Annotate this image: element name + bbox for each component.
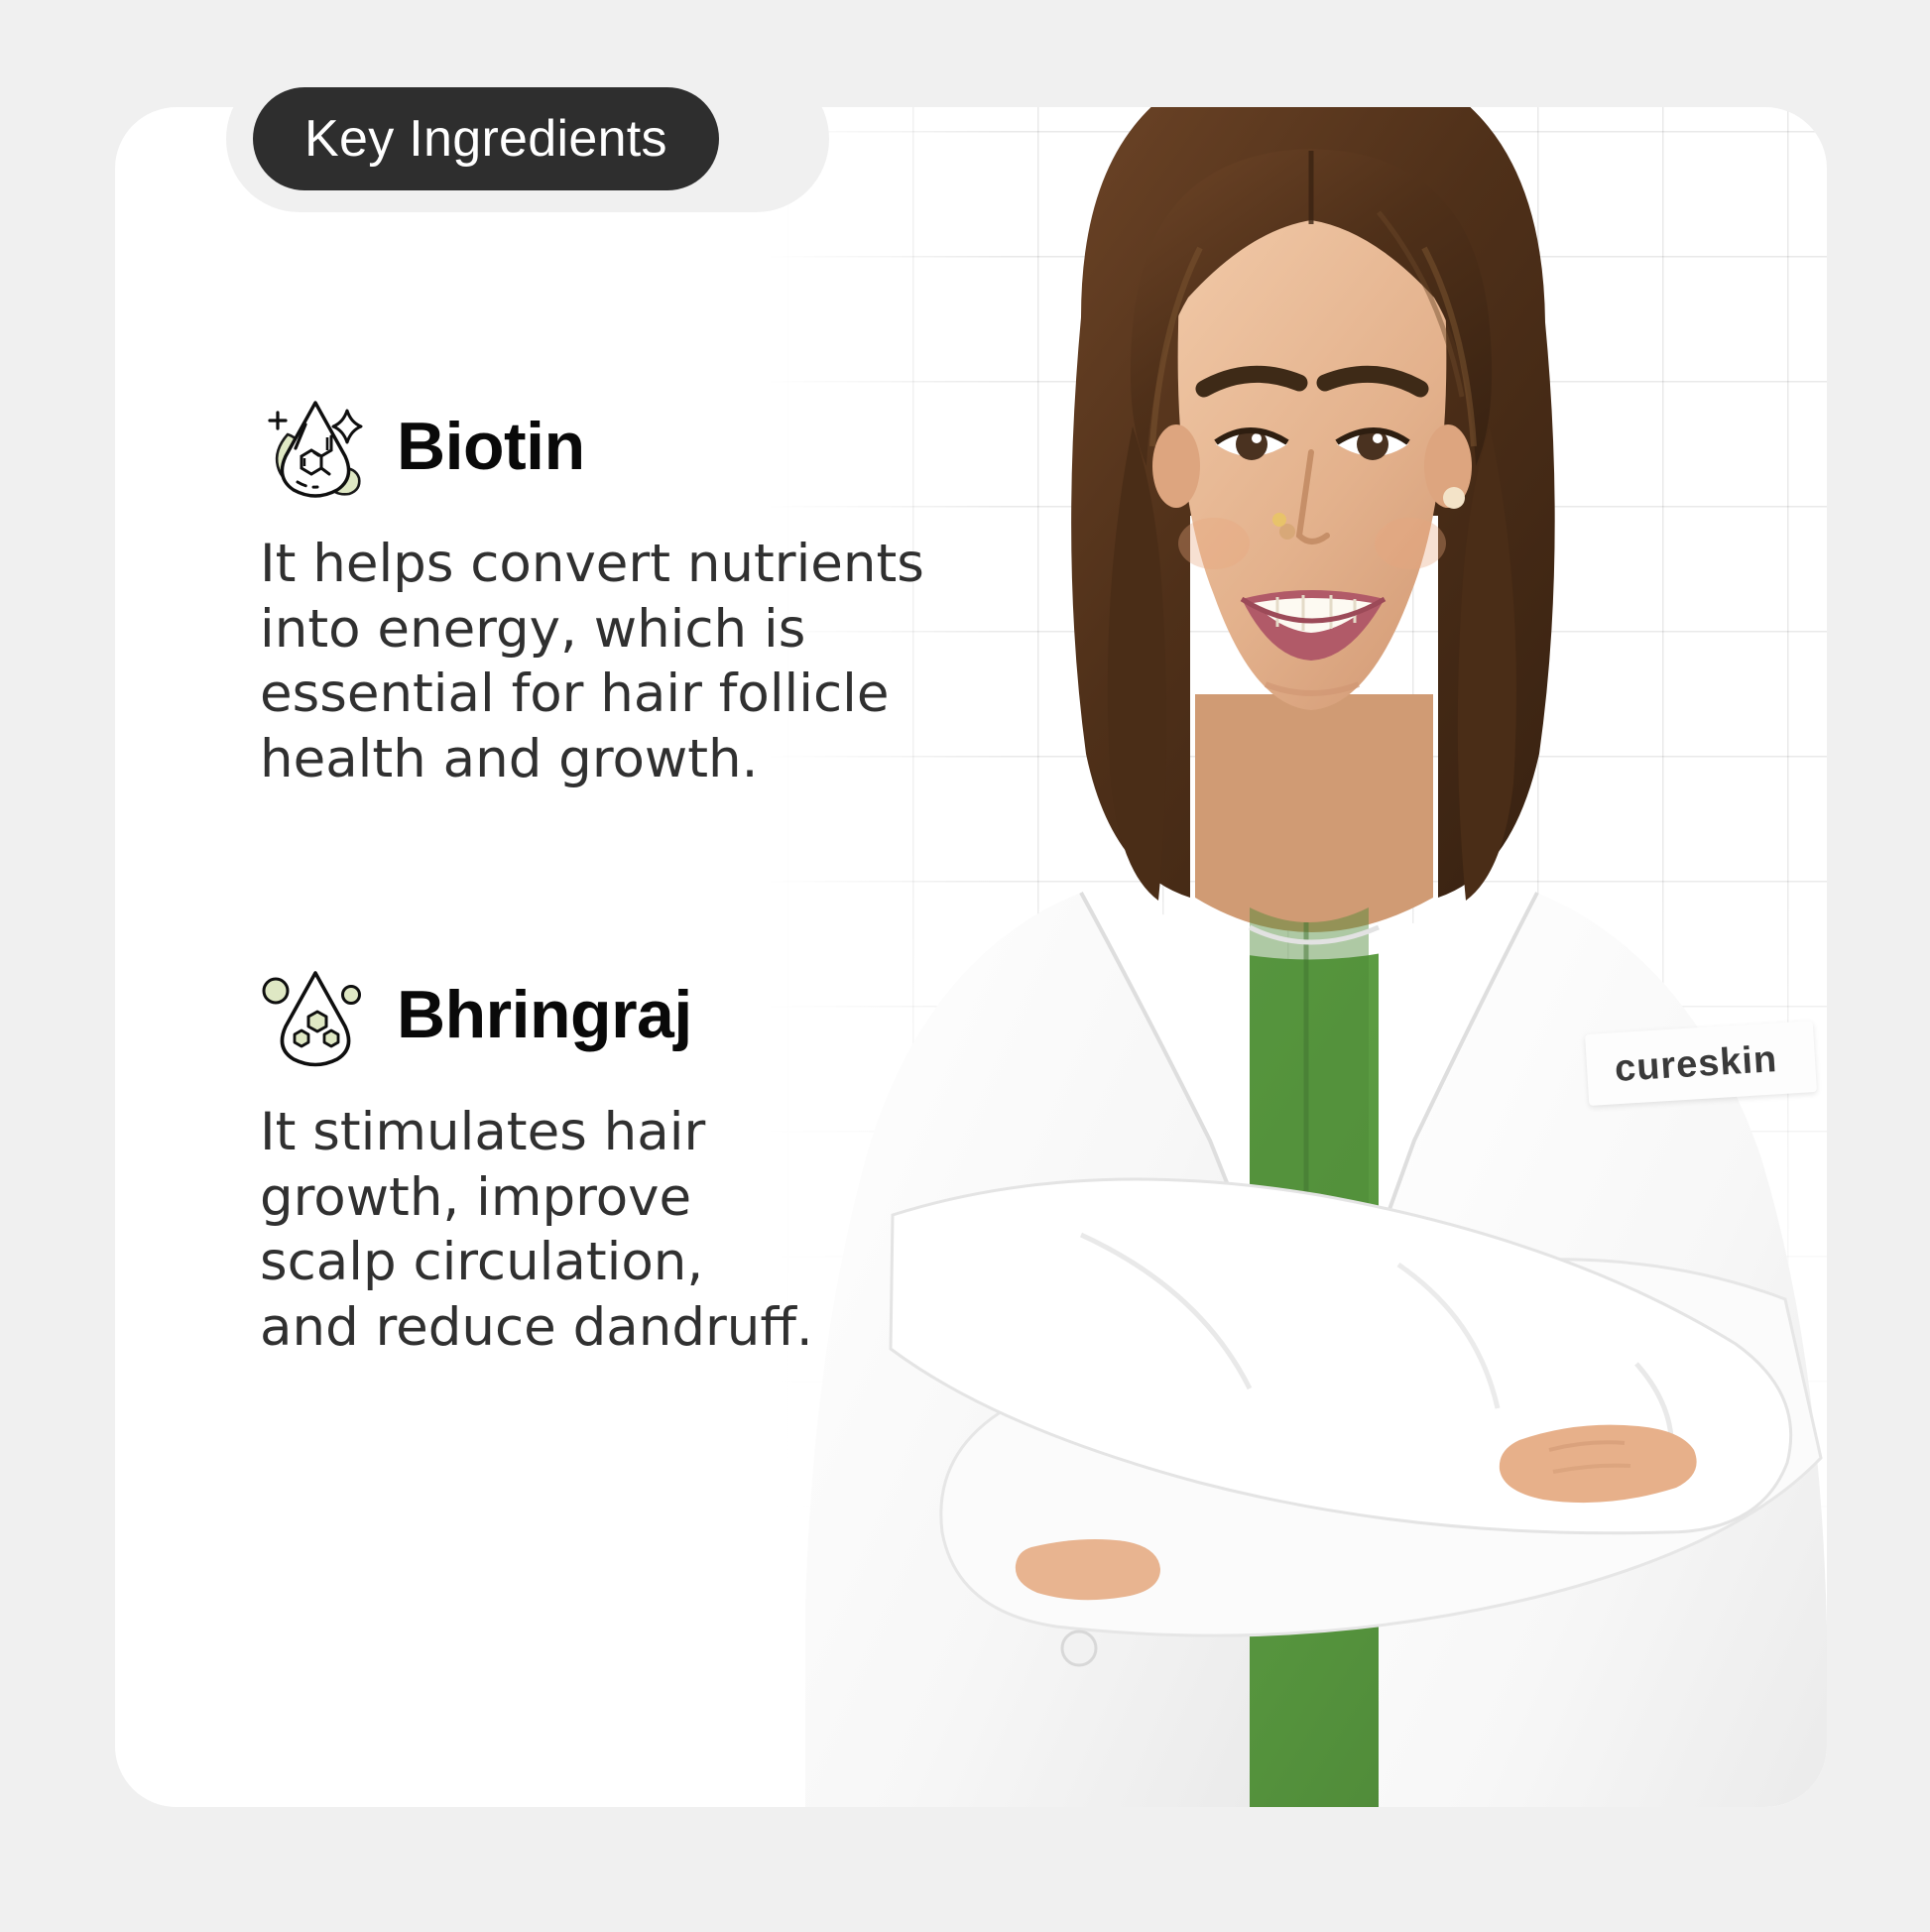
promo-card-canvas: cureskin Key Ingredients — [0, 0, 1930, 1932]
ingredient-description: It helps convert nutrients into energy, … — [260, 532, 1043, 792]
ingredient-title: Bhringraj — [397, 981, 692, 1048]
ingredient-header: Bhringraj — [260, 955, 1073, 1074]
ingredient-title: Biotin — [397, 413, 585, 480]
ingredient-item-bhringraj: Bhringraj It stimulates hair growth, imp… — [260, 955, 1073, 1361]
ingredient-list: Biotin It helps convert nutrients into e… — [260, 387, 1073, 1361]
ingredient-item-biotin: Biotin It helps convert nutrients into e… — [260, 387, 1073, 792]
key-ingredients-badge: Key Ingredients — [253, 87, 719, 190]
key-ingredients-badge-label: Key Ingredients — [304, 109, 667, 169]
droplet-molecule-sparkle-icon — [260, 391, 371, 502]
droplet-hexagon-icon — [260, 959, 371, 1070]
ingredient-header: Biotin — [260, 387, 1073, 506]
ingredient-description: It stimulates hair growth, improve scalp… — [260, 1100, 1043, 1361]
